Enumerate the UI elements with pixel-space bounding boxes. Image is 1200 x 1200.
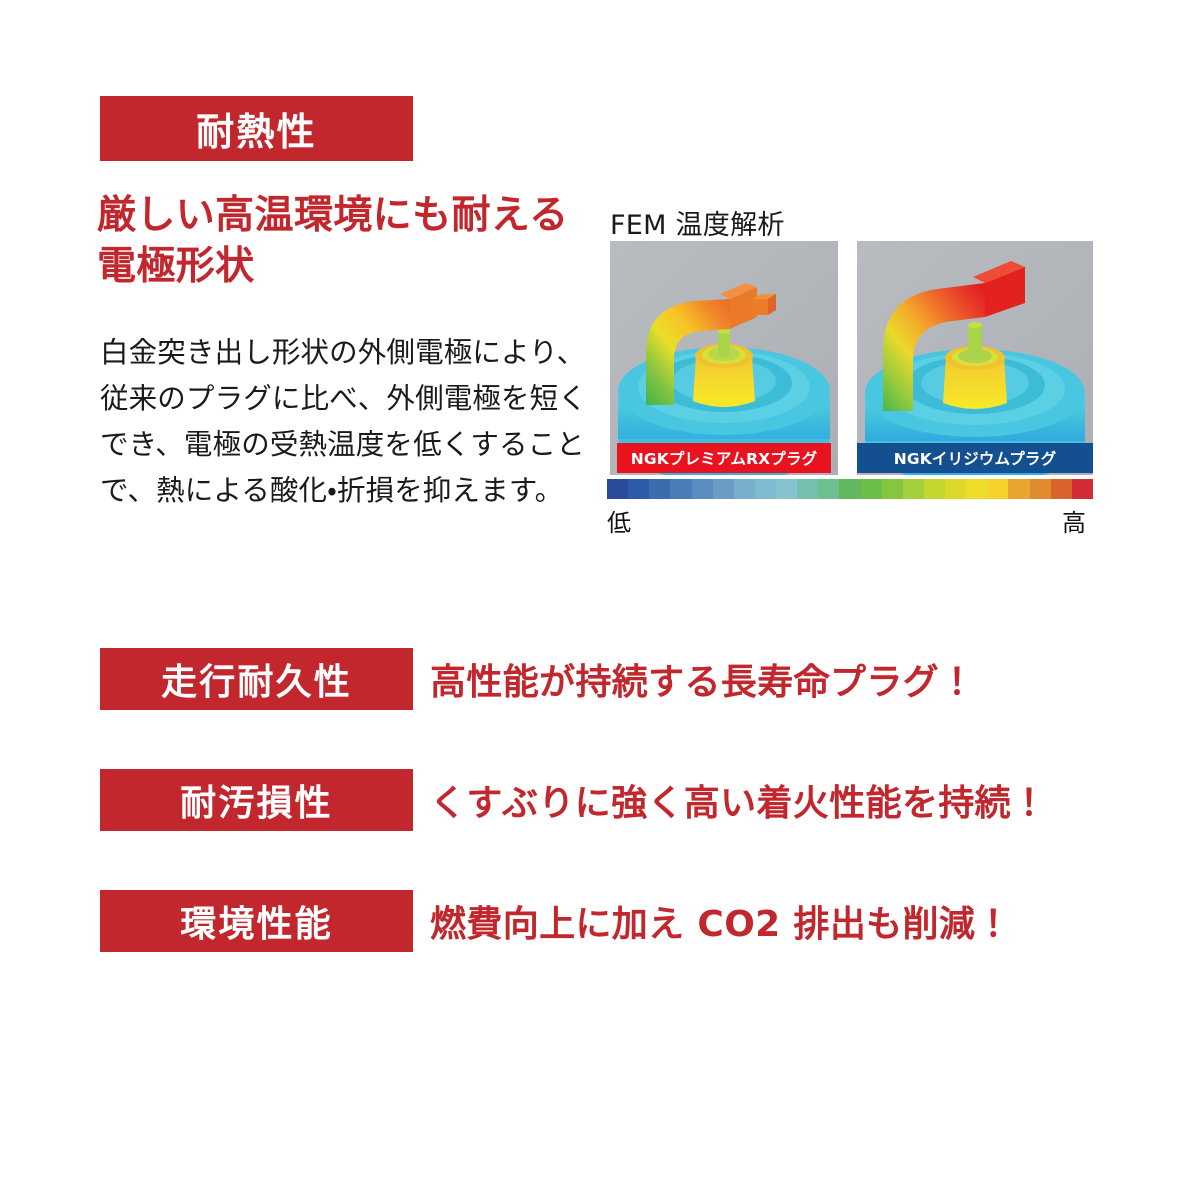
body-line-2: 従来のプラグに比べ、外側電極を短く: [100, 376, 590, 422]
colorbar-swatch-2: [649, 479, 670, 499]
colorbar-swatch-3: [670, 479, 691, 499]
colorbar-swatch-1: [628, 479, 649, 499]
fem-thermal-render-rx: [610, 241, 838, 475]
section-badge-fouling-resistance: 耐汚損性: [100, 769, 413, 831]
colorbar-swatch-14: [903, 479, 924, 499]
feature-text-environmental-performance: 燃費向上に加え CO2 排出も削減！: [430, 890, 1012, 952]
colorbar-swatch-15: [924, 479, 945, 499]
feature-text-driving-durability: 高性能が持続する長寿命プラグ！: [430, 648, 975, 710]
feature-text-fouling-resistance: くすぶりに強く高い着火性能を持続！: [430, 769, 1047, 831]
colorbar-swatch-9: [797, 479, 818, 499]
body-line-3: でき、電極の受熱温度を低くすること: [100, 422, 590, 468]
colorbar-swatch-4: [692, 479, 713, 499]
colorbar-label-high: 高: [1062, 503, 1086, 538]
section-badge-driving-durability: 走行耐久性: [100, 648, 413, 710]
colorbar-swatch-12: [861, 479, 882, 499]
temperature-colorbar: [607, 479, 1093, 499]
fem-analysis-title: FEM 温度解析: [610, 203, 785, 242]
body-line-4: で、熱による酸化・折損を抑えます。: [100, 468, 590, 514]
fem-caption-premium-rx: NGKプレミアムRXプラグ: [617, 443, 831, 473]
colorbar-swatch-5: [713, 479, 734, 499]
colorbar-swatch-0: [607, 479, 628, 499]
colorbar-swatch-19: [1008, 479, 1029, 499]
section-badge-heat-resistance: 耐熱性: [100, 96, 413, 161]
colorbar-swatch-10: [818, 479, 839, 499]
colorbar-swatch-18: [987, 479, 1008, 499]
colorbar-label-low: 低: [607, 503, 631, 538]
colorbar-swatch-20: [1030, 479, 1051, 499]
fem-caption-iridium: NGKイリジウムプラグ: [857, 443, 1093, 473]
colorbar-swatch-11: [839, 479, 860, 499]
heat-resistance-description: 白金突き出し形状の外側電極により、 従来のプラグに比べ、外側電極を短く でき、電…: [100, 330, 590, 515]
page-title: 厳しい高温環境にも耐える 電極形状: [97, 190, 597, 293]
colorbar-swatch-22: [1072, 479, 1093, 499]
body-line-1: 白金突き出し形状の外側電極により、: [100, 330, 590, 376]
fem-image-iridium: [857, 241, 1093, 475]
headline-line-2: 電極形状: [97, 241, 597, 292]
colorbar-swatch-6: [734, 479, 755, 499]
headline-line-1: 厳しい高温環境にも耐える: [97, 190, 597, 241]
colorbar-swatch-17: [966, 479, 987, 499]
fem-thermal-render-iridium: [857, 241, 1093, 475]
colorbar-swatch-7: [755, 479, 776, 499]
section-badge-environmental-performance: 環境性能: [100, 890, 413, 952]
colorbar-swatch-16: [945, 479, 966, 499]
colorbar-swatch-13: [882, 479, 903, 499]
fem-image-premium-rx: [610, 241, 838, 475]
page-root: 耐熱性 厳しい高温環境にも耐える 電極形状 白金突き出し形状の外側電極により、 …: [0, 0, 1200, 1200]
colorbar-swatch-8: [776, 479, 797, 499]
colorbar-swatch-21: [1051, 479, 1072, 499]
